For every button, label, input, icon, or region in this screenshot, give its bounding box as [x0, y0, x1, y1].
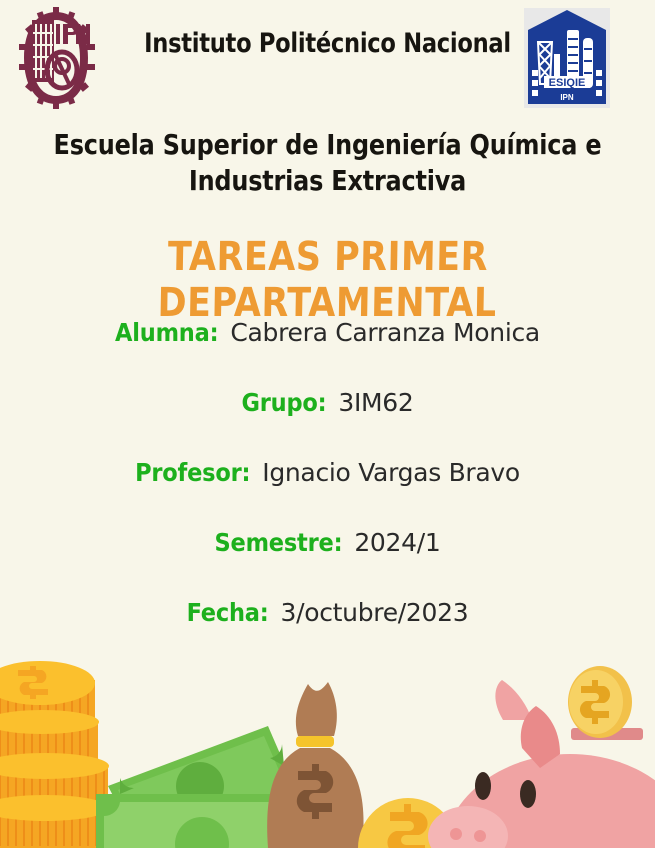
field-value: 2024/1	[354, 528, 440, 557]
page-title: TAREAS PRIMER DEPARTAMENTAL	[9, 234, 646, 326]
field-value: 3IM62	[338, 388, 413, 417]
field-label: Alumna:	[115, 318, 218, 347]
piggy-bank-icon	[428, 666, 655, 848]
info-fields: Alumna: Cabrera Carranza Monica Grupo: 3…	[0, 318, 655, 668]
field-alumna: Alumna: Cabrera Carranza Monica	[0, 318, 655, 348]
cover-page: Instituto Politécnico Nacional	[0, 0, 655, 848]
field-grupo: Grupo: 3IM62	[0, 388, 655, 418]
field-value: Ignacio Vargas Bravo	[262, 458, 520, 487]
coin-in-slot-icon	[568, 666, 632, 738]
field-profesor: Profesor: Ignacio Vargas Bravo	[0, 458, 655, 488]
money-illustration	[0, 658, 655, 848]
field-fecha: Fecha: 3/octubre/2023	[0, 598, 655, 628]
header: Instituto Politécnico Nacional	[0, 0, 655, 118]
field-label: Semestre:	[215, 528, 343, 557]
school-name: Escuela Superior de Ingeniería Química e…	[24, 127, 631, 199]
field-label: Fecha:	[187, 598, 269, 627]
esiqie-logo: ESIQIE IPN	[524, 8, 610, 108]
coin-stack-icon	[0, 661, 109, 848]
field-value: 3/octubre/2023	[281, 598, 469, 627]
field-label: Grupo:	[241, 388, 326, 417]
field-semestre: Semestre: 2024/1	[0, 528, 655, 558]
money-bag-icon	[267, 682, 363, 848]
field-label: Profesor:	[135, 458, 250, 487]
field-value: Cabrera Carranza Monica	[230, 318, 540, 347]
svg-text:ESIQIE: ESIQIE	[549, 77, 586, 89]
svg-text:IPN: IPN	[560, 93, 574, 102]
